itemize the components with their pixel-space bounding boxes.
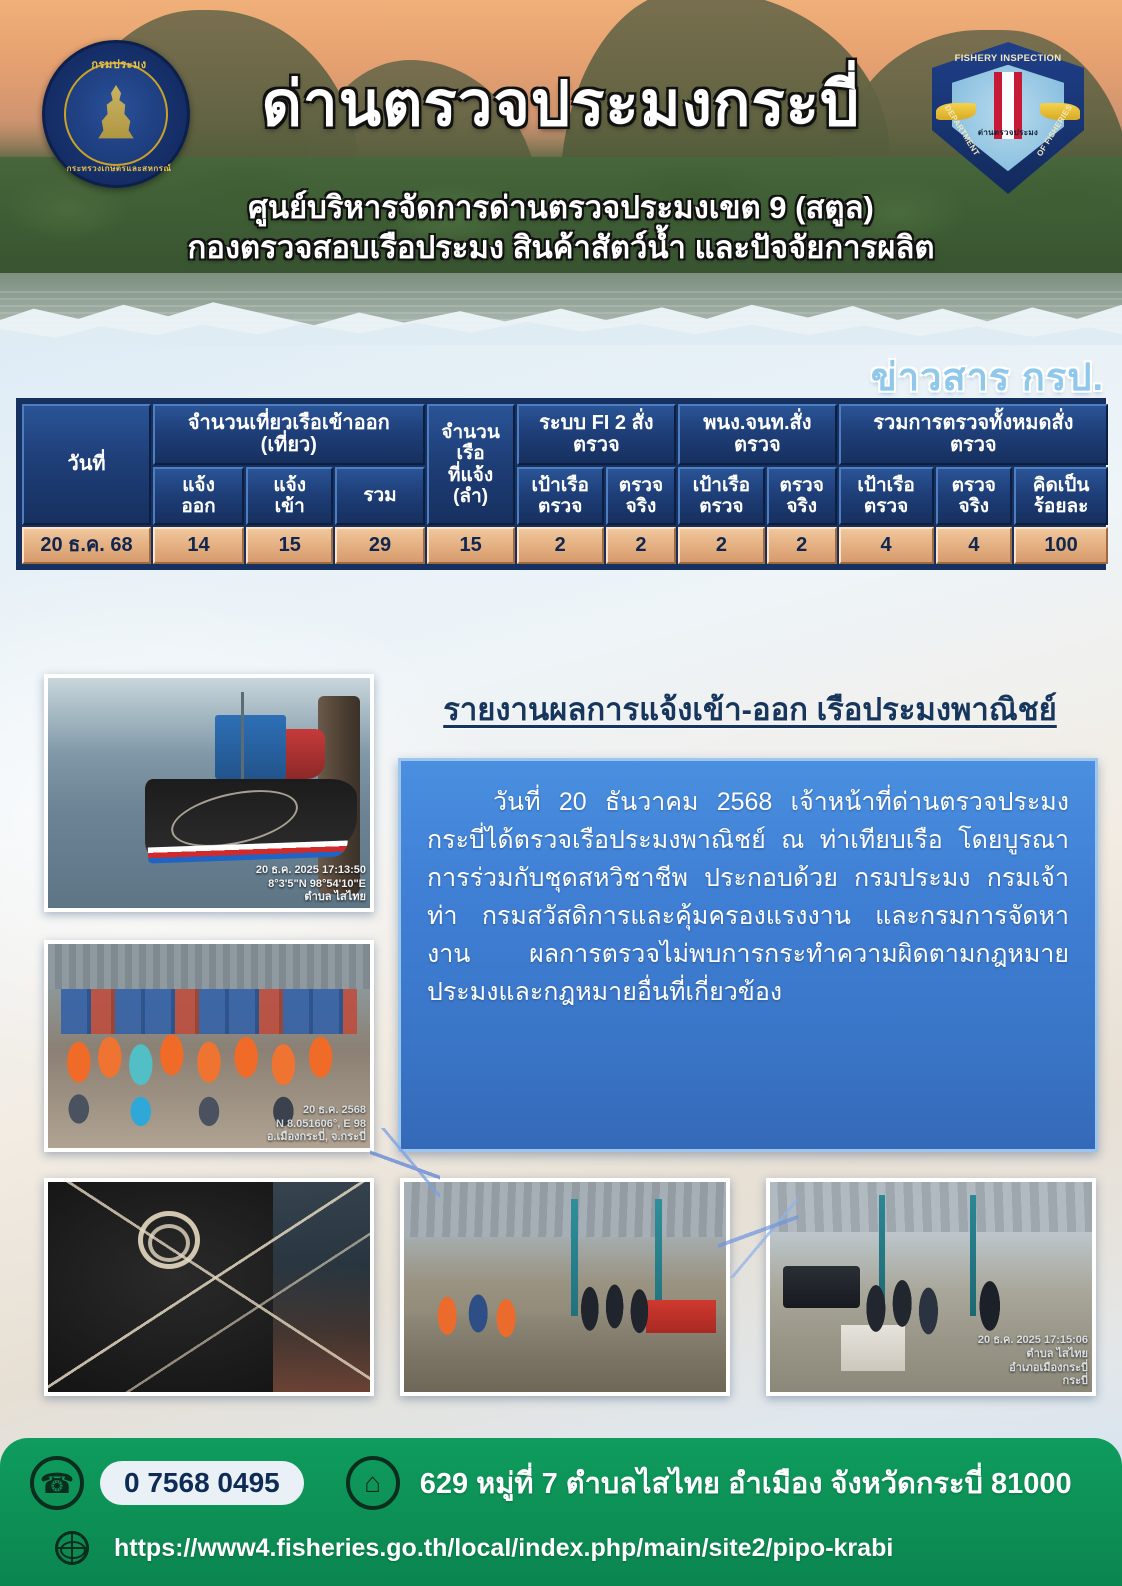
shed-roof: [404, 1182, 726, 1237]
cell-total-target: 4: [839, 527, 934, 563]
home-icon: ⌂: [346, 1456, 400, 1510]
th-officer-actual-l2: จริง: [786, 496, 817, 517]
th-vessels-l3: ที่แจ้ง: [448, 465, 493, 486]
badge-top-text: FISHERY INSPECTION: [932, 53, 1084, 64]
th-trips-sum: รวม: [335, 467, 424, 526]
statistics-table-wrapper: วันที่ จำนวนเที่ยวเรือเข้าออก (เที่ยว) จ…: [16, 398, 1106, 570]
report-title: รายงานผลการแจ้งเข้า-ออก เรือประมงพาณิชย์: [400, 684, 1100, 734]
boat-mast: [241, 692, 244, 789]
th-percent-l2: ร้อยละ: [1034, 496, 1089, 517]
th-total-l1: รวมการตรวจทั้งหมดสั่ง: [873, 412, 1073, 434]
shed-roof: [48, 944, 370, 989]
th-fi2-l2: ตรวจ: [573, 434, 620, 456]
photo-crew-in-life-jackets: 20 ธ.ค. 2568 N 8.051606°, E 98 อ.เมืองกร…: [44, 940, 374, 1152]
th-fi2-target-l2: ตรวจ: [538, 496, 582, 517]
report-body: วันที่ 20 ธันวาคม 2568 เจ้าหน้าที่ด่านตร…: [427, 783, 1069, 1011]
footer-row-primary: ☎ 0 7568 0495 ⌂ 629 หมู่ที่ 7 ตำบลไสไทย …: [30, 1456, 1072, 1510]
inspection-team: [410, 1262, 719, 1380]
cell-vessels-declared: 15: [427, 527, 515, 563]
seal-bottom-text: กระทรวงเกษตรและสหกรณ์: [45, 162, 193, 175]
contact-footer: ☎ 0 7568 0495 ⌂ 629 หมู่ที่ 7 ตำบลไสไทย …: [0, 1438, 1122, 1586]
table-header-row-1: วันที่ จำนวนเที่ยวเรือเข้าออก (เที่ยว) จ…: [22, 404, 1108, 465]
photo-image: [404, 1182, 726, 1392]
page-subtitle-line2: กองตรวจสอบเรือประมง สินค้าสัตว์น้ำ และปั…: [0, 222, 1122, 272]
th-in-l2: เข้า: [275, 496, 305, 517]
phone-icon: ☎: [30, 1456, 84, 1510]
th-officer-l1: พนง.จนท.สั่ง: [703, 412, 811, 434]
globe-glyph: [55, 1531, 89, 1565]
th-out-l1: แจ้ง: [182, 475, 215, 496]
th-vessels-l4: (ลำ): [453, 486, 488, 507]
th-fi2-actual-l2: จริง: [626, 496, 657, 517]
cell-declared-in: 15: [246, 527, 334, 563]
th-officer-group: พนง.จนท.สั่ง ตรวจ: [678, 404, 837, 465]
photo-inspection-walkway: [400, 1178, 730, 1396]
th-officer-actual-l1: ตรวจ: [780, 475, 824, 496]
boat-cabin: [215, 715, 286, 779]
th-fi2-target: เป้าเรือ ตรวจ: [517, 467, 604, 526]
th-percent: คิดเป็น ร้อยละ: [1014, 467, 1108, 526]
poster-root: กรมประมง กระทรวงเกษตรและสหกรณ์ FISHERY I…: [0, 0, 1122, 1586]
th-vessels-declared: จำนวน เรือ ที่แจ้ง (ลำ): [427, 404, 515, 525]
page-title: ด่านตรวจประมงกระบี่: [0, 74, 1122, 136]
th-trips-l1: จำนวนเที่ยวเรือเข้าออก: [188, 412, 390, 434]
cell-declared-out: 14: [153, 527, 244, 563]
cell-total-actual: 4: [936, 527, 1013, 563]
shed-roof: [770, 1182, 1092, 1232]
th-total-target-l2: ตรวจ: [864, 496, 908, 517]
th-officer-target: เป้าเรือ ตรวจ: [678, 467, 765, 526]
th-total-actual-l1: ตรวจ: [952, 475, 996, 496]
cell-trips-total: 29: [335, 527, 424, 563]
photo-fishing-boat-at-pier: 20 ธ.ค. 2025 17:13:50 8°3'5"N 98°54'10"E…: [44, 674, 374, 912]
th-in-l1: แจ้ง: [273, 475, 306, 496]
th-fi2-l1: ระบบ FI 2 สั่ง: [539, 412, 653, 434]
th-percent-l1: คิดเป็น: [1033, 475, 1090, 496]
photo-fishing-net-and-ropes: [44, 1178, 374, 1396]
th-officer-actual: ตรวจ จริง: [767, 467, 837, 526]
cell-percent: 100: [1014, 527, 1108, 563]
footer-row-website: https://www4.fisheries.go.th/local/index…: [48, 1524, 893, 1572]
hero-banner: กรมประมง กระทรวงเกษตรและสหกรณ์ FISHERY I…: [0, 0, 1122, 345]
cell-fi2-target: 2: [517, 527, 604, 563]
photo-image: 20 ธ.ค. 2025 17:13:50 8°3'5"N 98°54'10"E…: [48, 678, 370, 908]
th-total-group: รวมการตรวจทั้งหมดสั่ง ตรวจ: [839, 404, 1108, 465]
th-total-l2: ตรวจ: [950, 434, 997, 456]
report-text-box: วันที่ 20 ธันวาคม 2568 เจ้าหน้าที่ด่านตร…: [398, 758, 1098, 1152]
th-total-actual: ตรวจ จริง: [936, 467, 1013, 526]
cell-date: 20 ธ.ค. 68: [22, 527, 151, 563]
th-total-target-l1: เป้าเรือ: [857, 475, 914, 496]
th-total-target: เป้าเรือ ตรวจ: [839, 467, 934, 526]
th-trips-group: จำนวนเที่ยวเรือเข้าออก (เที่ยว): [153, 404, 425, 465]
photo-image: [48, 1182, 370, 1392]
photo-image: 20 ธ.ค. 2025 17:15:06 ตำบล ไสไทย อำเภอเม…: [770, 1182, 1092, 1392]
seal-top-text: กรมประมง: [45, 55, 193, 73]
th-officer-target-l2: ตรวจ: [699, 496, 743, 517]
rope-coil-inner: [148, 1224, 190, 1262]
th-fi2-target-l1: เป้าเรือ: [532, 475, 589, 496]
globe-icon: [48, 1524, 96, 1572]
th-total-actual-l2: จริง: [958, 496, 989, 517]
th-vessels-l2: เรือ: [457, 443, 485, 464]
th-declared-out: แจ้ง ออก: [153, 467, 244, 526]
table-row: 20 ธ.ค. 68 14 15 29 15 2 2 2 2 4 4 100: [22, 527, 1108, 563]
th-fi2-group: ระบบ FI 2 สั่ง ตรวจ: [517, 404, 676, 465]
th-declared-in: แจ้ง เข้า: [246, 467, 334, 526]
th-vessels-l1: จำนวน: [441, 422, 499, 443]
phone-number[interactable]: 0 7568 0495: [100, 1461, 304, 1505]
th-fi2-actual: ตรวจ จริง: [606, 467, 676, 526]
photo-caption: 20 ธ.ค. 2025 17:15:06 ตำบล ไสไทย อำเภอเม…: [978, 1334, 1088, 1389]
cell-officer-target: 2: [678, 527, 765, 563]
photo-caption: 20 ธ.ค. 2025 17:13:50 8°3'5"N 98°54'10"E…: [256, 864, 366, 905]
pickup-truck: [783, 1266, 860, 1308]
rope-lines: [48, 1182, 370, 1392]
statistics-table: วันที่ จำนวนเที่ยวเรือเข้าออก (เที่ยว) จ…: [20, 402, 1110, 566]
website-url[interactable]: https://www4.fisheries.go.th/local/index…: [114, 1534, 893, 1563]
table-header-row-2: แจ้ง ออก แจ้ง เข้า รวม เป้าเรือ ตรวจ: [22, 467, 1108, 526]
th-officer-target-l1: เป้าเรือ: [693, 475, 750, 496]
cell-fi2-actual: 2: [606, 527, 676, 563]
th-officer-l2: ตรวจ: [734, 434, 781, 456]
th-trips-l2: (เที่ยว): [261, 434, 317, 456]
th-fi2-actual-l1: ตรวจ: [619, 475, 663, 496]
th-out-l2: ออก: [181, 496, 215, 517]
table-border: วันที่ จำนวนเที่ยวเรือเข้าออก (เที่ยว) จ…: [16, 398, 1106, 570]
th-date: วันที่: [22, 404, 151, 525]
cell-officer-actual: 2: [767, 527, 837, 563]
photo-caption: 20 ธ.ค. 2568 N 8.051606°, E 98 อ.เมืองกร…: [267, 1104, 366, 1145]
photo-dockside-interview: 20 ธ.ค. 2025 17:15:06 ตำบล ไสไทย อำเภอเม…: [766, 1178, 1096, 1396]
office-address: 629 หมู่ที่ 7 ตำบลไสไทย อำเมือง จังหวัดก…: [420, 1460, 1072, 1506]
photo-image: 20 ธ.ค. 2568 N 8.051606°, E 98 อ.เมืองกร…: [48, 944, 370, 1148]
